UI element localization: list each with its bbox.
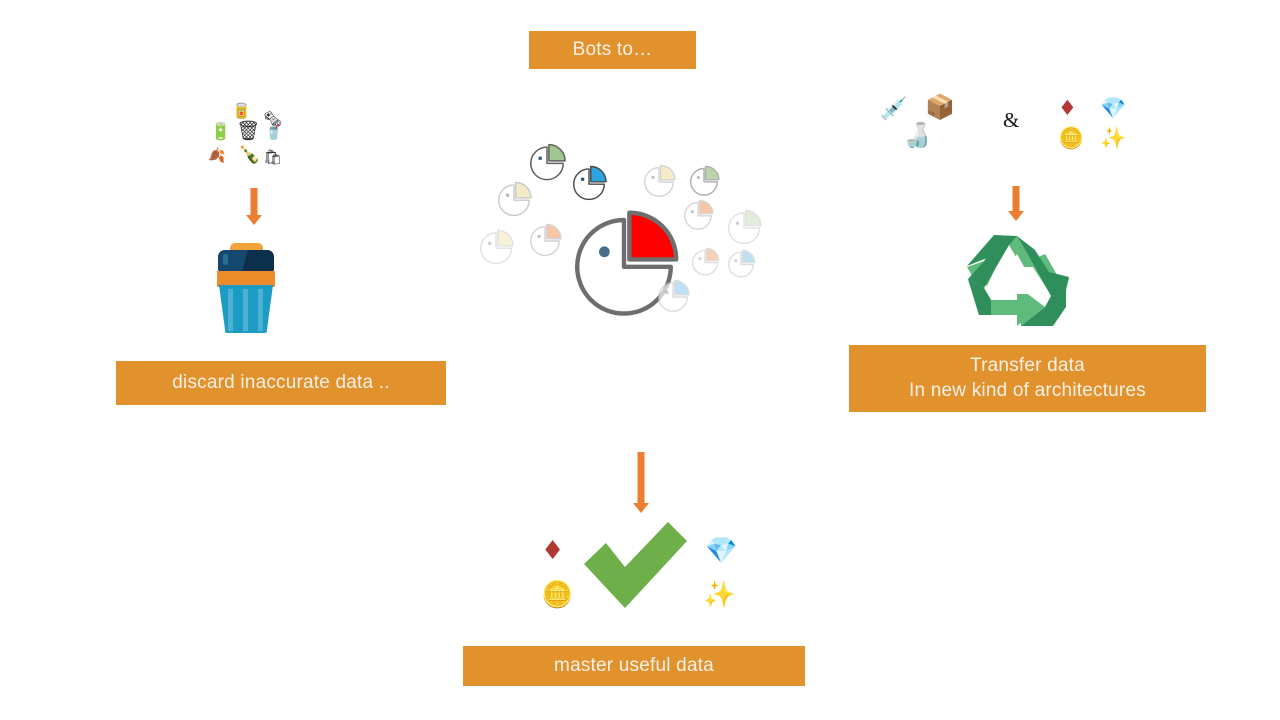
discard-data-banner[interactable]: discard inaccurate data .. [116, 361, 446, 405]
master-data-banner[interactable]: master useful data [463, 646, 805, 686]
coin-stack-icon: 🪙 [1058, 128, 1084, 149]
ampersand-label: & [1003, 108, 1019, 133]
pie-chart [573, 168, 605, 200]
arrow-head [633, 503, 649, 513]
arrow-head [246, 215, 262, 225]
pie-chart [728, 252, 754, 278]
pie-chart [684, 202, 712, 230]
pie-marker-dot [488, 241, 492, 245]
pie-chart [728, 212, 760, 244]
arrow-shaft [638, 452, 645, 504]
pie-chart [480, 232, 512, 264]
pie-highlight-slice [498, 230, 513, 245]
pie-marker-dot [665, 291, 668, 294]
pie-highlight-slice [547, 224, 561, 238]
red-gem-icon: ♦ [1058, 98, 1077, 119]
pie-marker-dot [599, 247, 610, 258]
battery-icon: 🔋 [210, 124, 231, 141]
pie-marker-dot [691, 210, 694, 213]
arrow-shaft [1013, 186, 1020, 212]
orange-gem-icon: 💎 [1100, 98, 1126, 119]
gold-bars-icon: ✨ [703, 582, 735, 608]
arrow-shaft [251, 188, 258, 216]
trash-bin-lid-knob [223, 254, 228, 265]
title-banner[interactable]: Bots to… [529, 31, 696, 69]
pie-highlight-slice [629, 213, 676, 260]
trash-bin-body [219, 285, 273, 333]
slide-canvas: Bots to… 🥫🗞🔋🗑🥤🍂🍾🛍 discard inaccurate dat… [0, 0, 1280, 720]
pie-highlight-slice [706, 167, 719, 180]
pie-marker-dot [538, 156, 542, 160]
gold-bars-icon: ✨ [1100, 128, 1126, 149]
waste-icon-cluster: 🥫🗞🔋🗑🥤🍂🍾🛍 [208, 104, 288, 172]
pie-highlight-slice [661, 165, 675, 179]
transfer-data-banner[interactable]: Transfer data In new kind of architectur… [849, 345, 1206, 412]
arrow-head [1008, 211, 1024, 221]
bottle-icon: 🍾 [238, 146, 260, 164]
syringe-needles-icon: 💉 [880, 99, 907, 121]
coin-stack-icon: 🪙 [541, 582, 573, 608]
recycle-symbol-icon [965, 230, 1070, 330]
pie-chart [690, 168, 718, 196]
orange-gem-icon: 💎 [705, 538, 737, 564]
banana-peel-icon: 🍂 [208, 149, 225, 163]
pie-chart-cluster [470, 140, 770, 325]
green-check-icon [580, 520, 690, 610]
arrow-down-right [1006, 186, 1026, 222]
recyclable-icon-cluster: 💉📦🍶 [880, 95, 960, 157]
pie-marker-dot [698, 258, 701, 261]
red-gem-icon: ♦ [541, 538, 564, 564]
arrow-down-bottom [631, 452, 651, 514]
plastic-bag-icon: 🛍 [263, 150, 282, 165]
trash-bin-icon [212, 239, 280, 334]
pie-highlight-slice [706, 249, 718, 261]
trash-bin-band [217, 271, 275, 287]
pie-marker-dot [697, 176, 700, 179]
pie-marker-dot [506, 193, 510, 197]
pie-highlight-slice [549, 144, 565, 160]
pie-chart [498, 184, 530, 216]
pie-marker-dot [736, 221, 740, 225]
cardboard-box-icon: 📦 [925, 95, 955, 119]
pie-highlight-slice [700, 201, 713, 214]
pie-marker-dot [651, 176, 654, 179]
pie-highlight-slice [591, 166, 606, 181]
crushed-can-icon: 🥫 [232, 104, 251, 119]
pie-chart [530, 146, 564, 180]
pie-chart [658, 282, 688, 312]
pie-chart [692, 250, 718, 276]
waste-bin-icon: 🗑 [236, 122, 260, 141]
treasure-icon-cluster-top: ♦💎🪙✨ [1058, 98, 1130, 154]
pie-highlight-slice [516, 182, 531, 197]
pie-highlight-slice [675, 280, 689, 294]
pie-marker-dot [537, 235, 540, 238]
pie-marker-dot [734, 260, 737, 263]
tin-can-icon: 🥤 [265, 126, 282, 140]
pie-chart [530, 226, 560, 256]
glass-bottles-bin-icon: 🍶 [902, 123, 932, 147]
arrow-down-left [244, 188, 264, 226]
pie-highlight-slice [742, 251, 754, 263]
pie-chart [644, 167, 674, 197]
pie-highlight-slice [746, 210, 761, 225]
pie-marker-dot [581, 177, 585, 181]
